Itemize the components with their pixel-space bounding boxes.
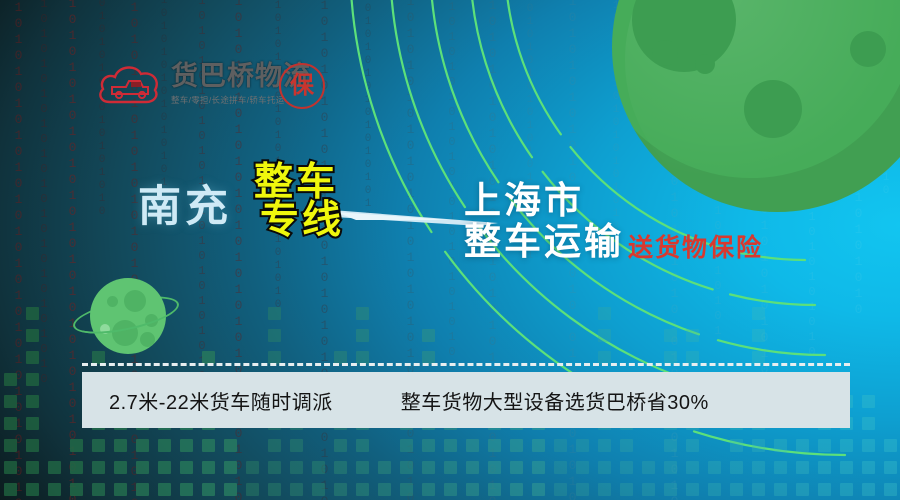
grid-square [334,439,347,452]
grid-square [796,483,809,496]
grid-square [136,483,149,496]
grid-square [4,395,17,408]
binary-column: 10101010101010101010101010101 [196,0,208,294]
grid-square [4,439,17,452]
grid-square [202,461,215,474]
grid-square [708,461,721,474]
grid-square [422,483,435,496]
bottom-info-bar: 2.7米-22米货车随时调派 整车货物大型设备选货巴桥省30% [82,372,850,428]
grid-square [92,439,105,452]
grid-square [312,483,325,496]
grid-square [268,307,281,320]
origin-city: 南充 [138,186,232,229]
grid-square [774,483,787,496]
grid-square [818,439,831,452]
grid-square [4,417,17,430]
grid-square [400,483,413,496]
grid-square [686,329,699,342]
grid-square [4,373,17,386]
grid-square [378,483,391,496]
grid-square [554,461,567,474]
grid-square [136,439,149,452]
grid-square [488,461,501,474]
grid-square [158,483,171,496]
grid-square [818,461,831,474]
grid-square [48,483,61,496]
crater [695,54,715,74]
grid-square [356,329,369,342]
grid-square [92,483,105,496]
binary-column: 10101010101010101010101 [524,0,535,204]
grid-square [444,483,457,496]
grid-square [92,461,105,474]
grid-square [862,439,875,452]
grid-square [488,439,501,452]
destination-service: 整车运输 [464,221,624,262]
grid-square [818,483,831,496]
grid-square [554,483,567,496]
grid-square [884,461,897,474]
grid-square [466,483,479,496]
grid-square [334,461,347,474]
dashed-divider [82,363,850,366]
insurance-badge[interactable]: 保 [279,63,325,109]
grid-square [422,461,435,474]
grid-square [48,461,61,474]
route-highlight-line1: 整车 [254,164,360,202]
grid-square [752,329,765,342]
binary-column: 010101010101010101010101010 [38,0,50,282]
grid-square [444,439,457,452]
grid-square [598,307,611,320]
grid-square [686,483,699,496]
grid-square [642,461,655,474]
grid-square [466,461,479,474]
grid-square [730,461,743,474]
grid-square [620,483,633,496]
grid-square [26,395,39,408]
grid-square [862,461,875,474]
grid-square [70,461,83,474]
grid-square [26,417,39,430]
grid-square [180,483,193,496]
grid-square [708,483,721,496]
grid-square [664,483,677,496]
grid-square [26,373,39,386]
grid-square [488,483,501,496]
grid-square [576,461,589,474]
grid-square [26,483,39,496]
grid-square [532,483,545,496]
grid-square [114,483,127,496]
crater [652,40,678,66]
grid-square [532,461,545,474]
route-highlight-line2: 专线 [260,202,360,240]
grid-square [26,329,39,342]
binary-column: 10101010101010101010 [362,0,373,164]
grid-square [356,307,369,320]
grid-square [752,439,765,452]
grid-square [554,439,567,452]
grid-square [620,439,633,452]
grid-square [884,439,897,452]
grid-square [70,439,83,452]
grid-square [774,461,787,474]
grid-square [510,439,523,452]
grid-square [334,483,347,496]
grid-square [356,461,369,474]
grid-square [686,439,699,452]
grid-square [312,461,325,474]
binary-column: 10101010101010101010101010101 [446,0,458,320]
grid-square [796,439,809,452]
grid-square [158,461,171,474]
grid-square [158,439,171,452]
grid-square [422,439,435,452]
grid-square [752,483,765,496]
grid-square [378,461,391,474]
grid-square [598,329,611,342]
grid-square [642,483,655,496]
poster-canvas: 1010101010101010101010101010101010101010… [0,0,900,500]
grid-square [466,439,479,452]
grid-square [400,461,413,474]
grid-square [664,329,677,342]
grid-square [70,483,83,496]
grid-square [862,395,875,408]
grid-square [268,329,281,342]
grid-square [620,461,633,474]
grid-square [4,483,17,496]
grid-square [180,439,193,452]
grid-square [246,461,259,474]
grid-square [268,461,281,474]
grid-square [202,483,215,496]
grid-square [576,483,589,496]
grid-square [510,461,523,474]
grid-square [730,439,743,452]
grid-square [268,439,281,452]
grid-square [752,461,765,474]
grid-square [224,483,237,496]
grid-square [114,461,127,474]
insurance-note: 送货物保险 [628,228,763,264]
grid-square [422,329,435,342]
grid-square [246,483,259,496]
grid-square [180,461,193,474]
grid-square [664,461,677,474]
truck-in-cloud-icon [96,58,162,110]
grid-square [598,439,611,452]
grid-square [26,307,39,320]
grid-square [136,461,149,474]
grid-square [598,483,611,496]
grid-square [862,417,875,430]
grid-square [686,461,699,474]
crater [744,80,802,138]
route-highlight: 整车 专线 [254,164,360,240]
bottom-bar-left-text: 2.7米-22米货车随时调派 [109,386,333,415]
grid-square [840,439,853,452]
grid-square [356,439,369,452]
grid-square [290,483,303,496]
grid-square [26,439,39,452]
grid-square [840,483,853,496]
grid-square [576,439,589,452]
destination-block: 上海市 整车运输 [464,180,624,263]
grid-square [774,439,787,452]
grid-square [26,351,39,364]
grid-square [796,461,809,474]
grid-square [532,439,545,452]
grid-square [290,461,303,474]
destination-city: 上海市 [464,180,624,221]
grid-square [730,483,743,496]
grid-square [290,439,303,452]
grid-square [598,461,611,474]
grid-square [224,439,237,452]
grid-square [510,483,523,496]
grid-square [356,483,369,496]
grid-square [114,439,127,452]
grid-square [268,483,281,496]
grid-square [752,307,765,320]
green-planet-ringed [72,272,180,364]
grid-square [840,461,853,474]
grid-square [884,483,897,496]
grid-square [862,483,875,496]
crater [850,31,886,67]
grid-square [202,439,215,452]
crater [140,332,155,347]
grid-square [444,461,457,474]
grid-square [26,461,39,474]
bottom-bar-right-text: 整车货物大型设备选货巴桥省30% [401,386,709,415]
grid-square [400,439,413,452]
grid-square [224,461,237,474]
grid-square [4,461,17,474]
grid-square [664,439,677,452]
